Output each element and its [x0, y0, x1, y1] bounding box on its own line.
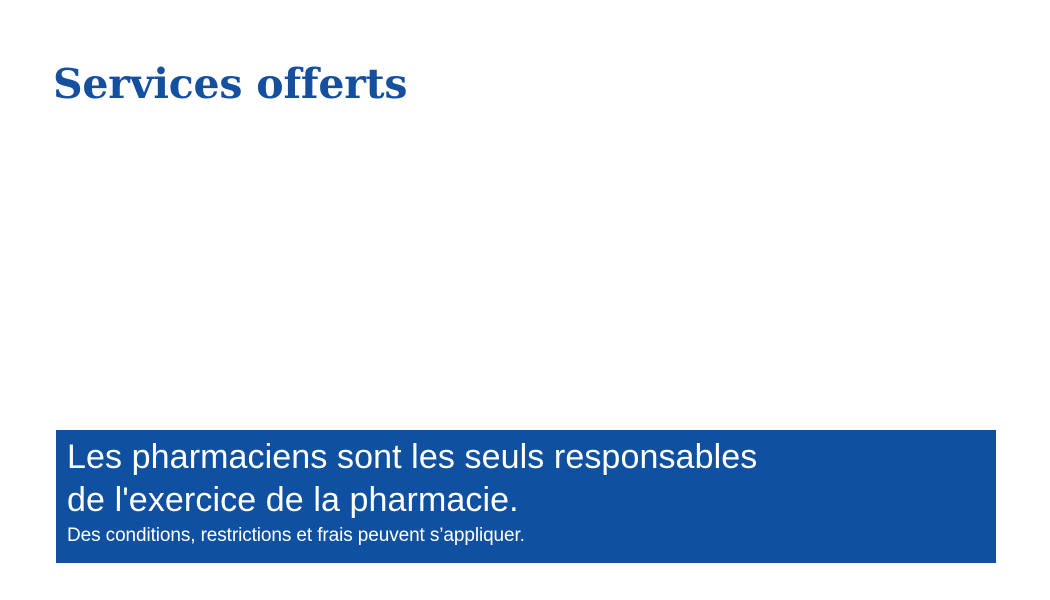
callout-subtitle: Des conditions, restrictions et frais pe… — [67, 523, 984, 549]
callout-line-2: de l'exercice de la pharmacie. — [67, 479, 984, 522]
callout-banner: Les pharmaciens sont les seuls responsab… — [56, 430, 996, 563]
slide-canvas: Services offerts Les pharmaciens sont le… — [0, 0, 1050, 600]
page-title: Services offerts — [53, 59, 407, 109]
callout-line-1: Les pharmaciens sont les seuls responsab… — [67, 436, 984, 479]
slide-content-area — [56, 118, 996, 424]
